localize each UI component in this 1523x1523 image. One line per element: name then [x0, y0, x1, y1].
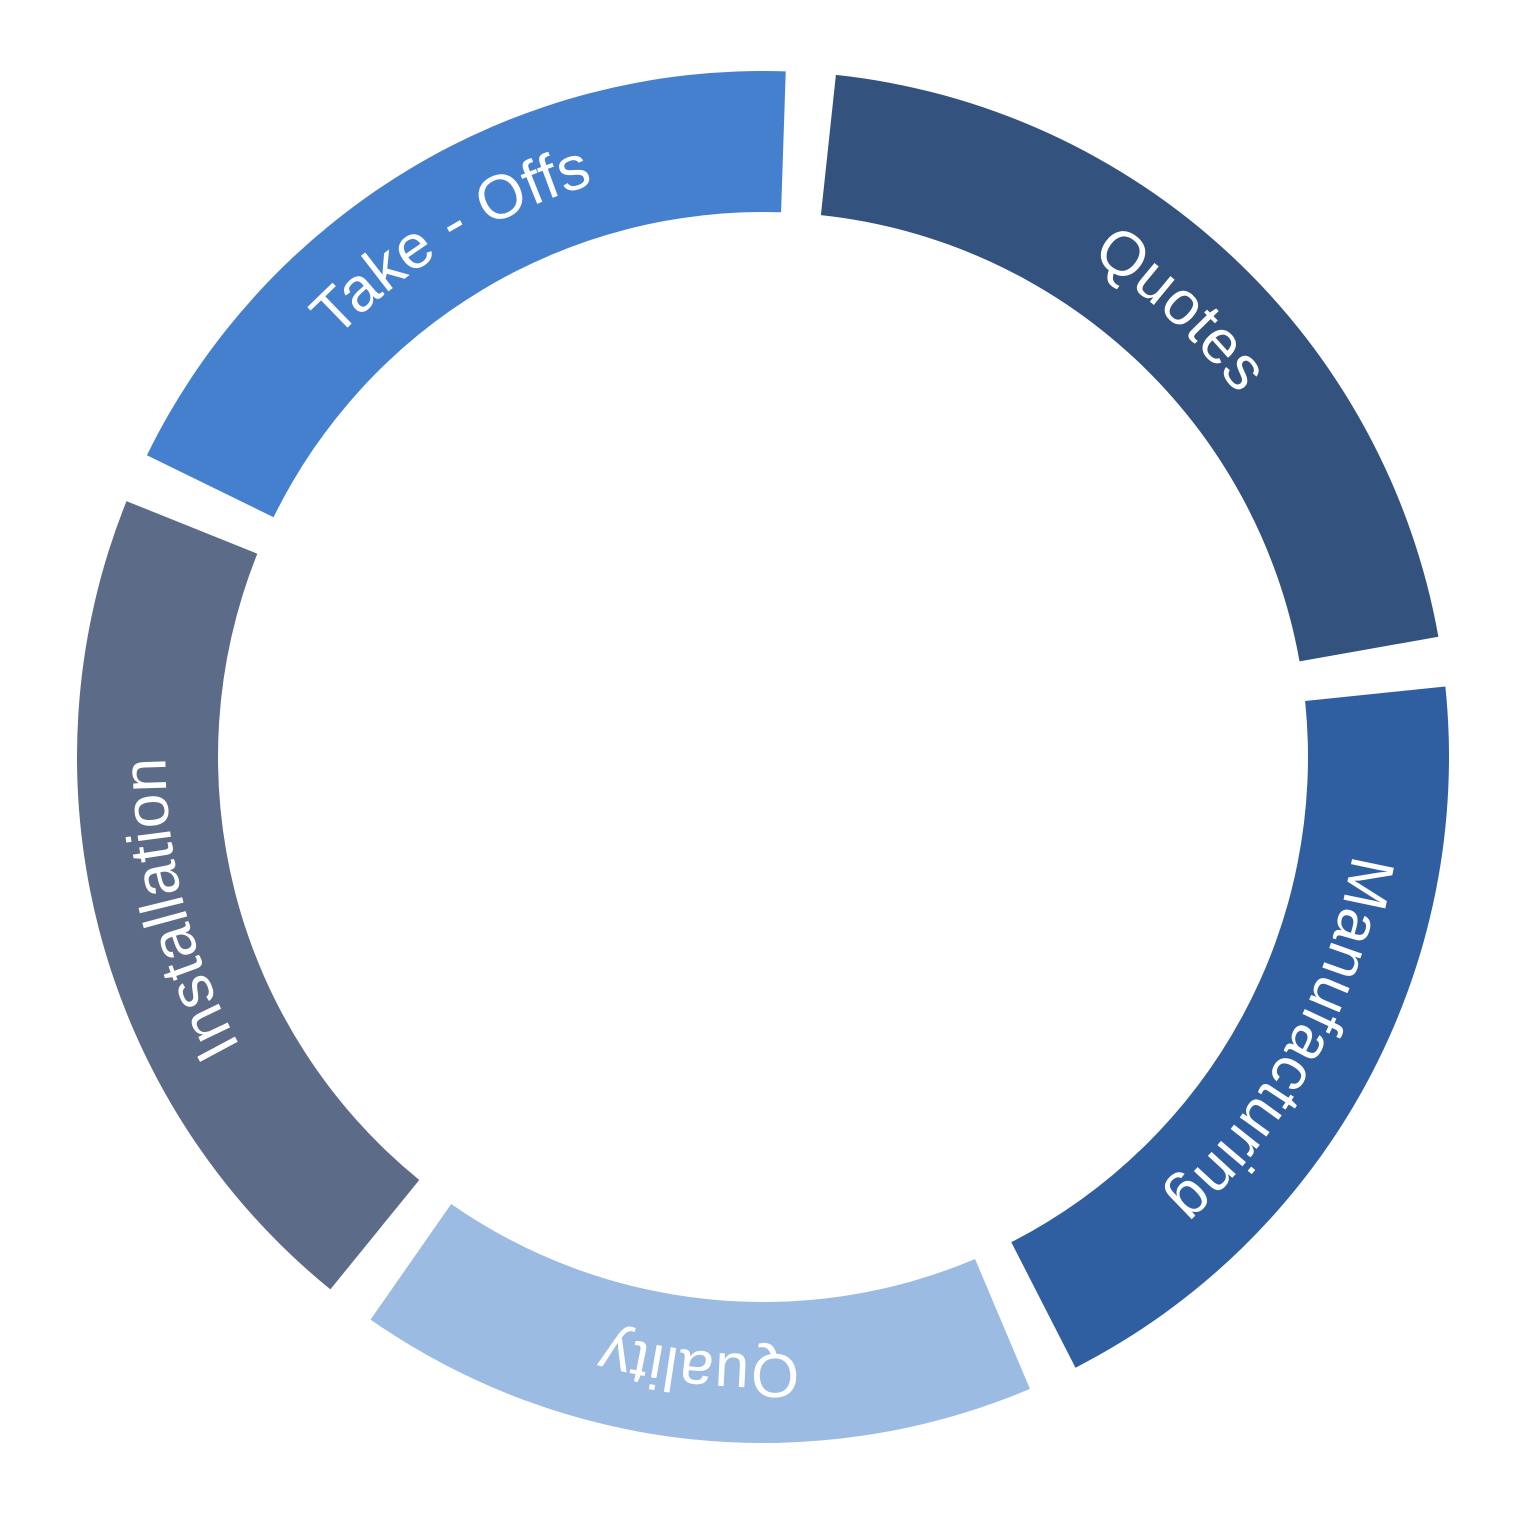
cycle-segment-quality[interactable]	[371, 1204, 1030, 1443]
process-cycle-diagram: Take - OffsQuotesManufacturingQualityIns…	[0, 0, 1523, 1523]
cycle-segment-manufacturing[interactable]	[1011, 686, 1449, 1367]
cycle-segment-take-offs[interactable]	[147, 71, 786, 517]
segments-group	[77, 71, 1449, 1443]
cycle-segment-quotes[interactable]	[821, 75, 1438, 662]
